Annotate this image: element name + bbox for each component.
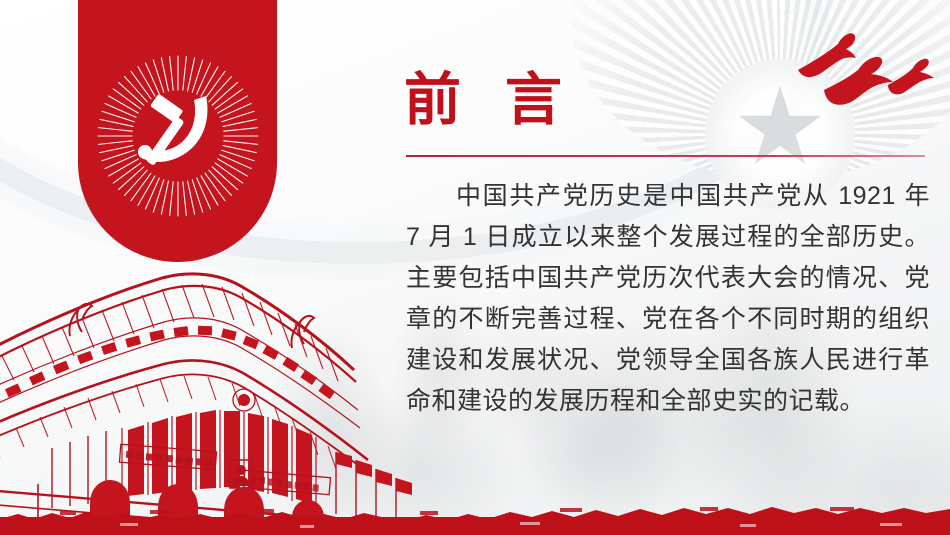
dove-icon [824, 57, 893, 105]
red-doves [780, 18, 950, 108]
hammer-and-sickle-emblem [94, 52, 262, 220]
tiananmen-gate-illustration [0, 252, 422, 535]
dove-icon [798, 33, 856, 77]
dove-icon [888, 59, 934, 95]
page-title: 前 言 [404, 72, 576, 129]
bottom-red-band [0, 505, 950, 535]
red-shield-banner [78, 0, 277, 262]
body-paragraph: 中国共产党历史是中国共产党从 1921 年 7 月 1 日成立以来整个发展过程的… [406, 176, 930, 422]
emblem-rays [98, 56, 258, 216]
title-divider [406, 155, 925, 157]
slide-canvas: 前 言 中国共产党历史是中国共产党从 1921 年 7 月 1 日成立以来整个发… [0, 0, 950, 535]
